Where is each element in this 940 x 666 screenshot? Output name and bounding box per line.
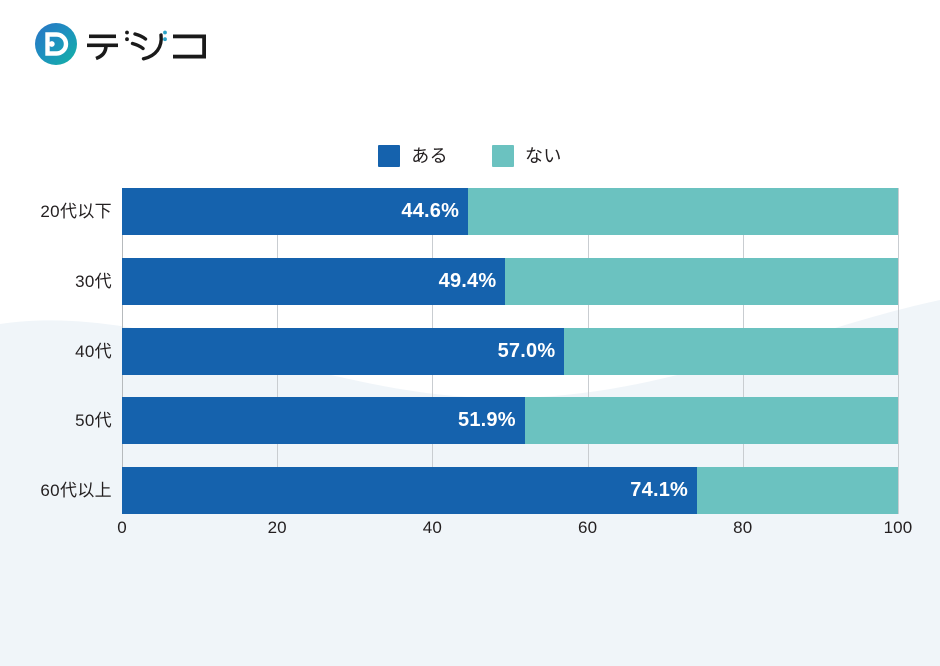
x-tick-label-100: 100: [884, 518, 913, 538]
y-axis-category-label: 30代: [0, 258, 112, 305]
bar-row: 44.6%: [122, 188, 898, 235]
bar-segment-primary[interactable]: 51.9%: [122, 397, 525, 444]
digico-wordmark: [87, 25, 213, 63]
stacked-bar-chart: あるない 20代以下44.6%30代49.4%40代57.0%50代51.9%6…: [0, 0, 940, 666]
x-tick-label-0: 0: [117, 518, 127, 538]
x-tick-label-60: 60: [578, 518, 597, 538]
x-tick-label-40: 40: [423, 518, 442, 538]
bar-row: 51.9%: [122, 397, 898, 444]
bar-segment-primary[interactable]: 57.0%: [122, 328, 564, 375]
bar-row: 74.1%: [122, 467, 898, 514]
legend-label-1: ある: [411, 147, 448, 165]
legend-item-2[interactable]: ない: [492, 145, 562, 167]
digico-circle-logo-icon: [34, 22, 78, 66]
bar-segment-primary[interactable]: 49.4%: [122, 258, 505, 305]
y-axis-category-label: 20代以下: [0, 188, 112, 235]
bar-segment-primary[interactable]: 44.6%: [122, 188, 468, 235]
bar-value-label: 51.9%: [458, 409, 525, 432]
plot-area: 20代以下44.6%30代49.4%40代57.0%50代51.9%60代以上7…: [122, 188, 898, 514]
gridline-100: [898, 188, 899, 514]
chart-legend: あるない: [0, 145, 940, 167]
x-tick-label-20: 20: [268, 518, 287, 538]
legend-swatch-nai: [492, 145, 514, 167]
y-axis-category-label: 50代: [0, 397, 112, 444]
x-axis-tick-labels: 020406080100: [122, 518, 898, 546]
legend-item-1[interactable]: ある: [378, 145, 448, 167]
bar-value-label: 44.6%: [401, 200, 468, 223]
bar-row: 49.4%: [122, 258, 898, 305]
bar-value-label: 49.4%: [439, 270, 506, 293]
brand-logo: [34, 22, 213, 66]
bar-value-label: 74.1%: [630, 479, 697, 502]
legend-swatch-aru: [378, 145, 400, 167]
bar-value-label: 57.0%: [498, 340, 565, 363]
legend-label-2: ない: [525, 147, 562, 165]
bar-segment-primary[interactable]: 74.1%: [122, 467, 697, 514]
y-axis-category-label: 40代: [0, 328, 112, 375]
x-tick-label-80: 80: [733, 518, 752, 538]
bar-row: 57.0%: [122, 328, 898, 375]
y-axis-category-label: 60代以上: [0, 467, 112, 514]
